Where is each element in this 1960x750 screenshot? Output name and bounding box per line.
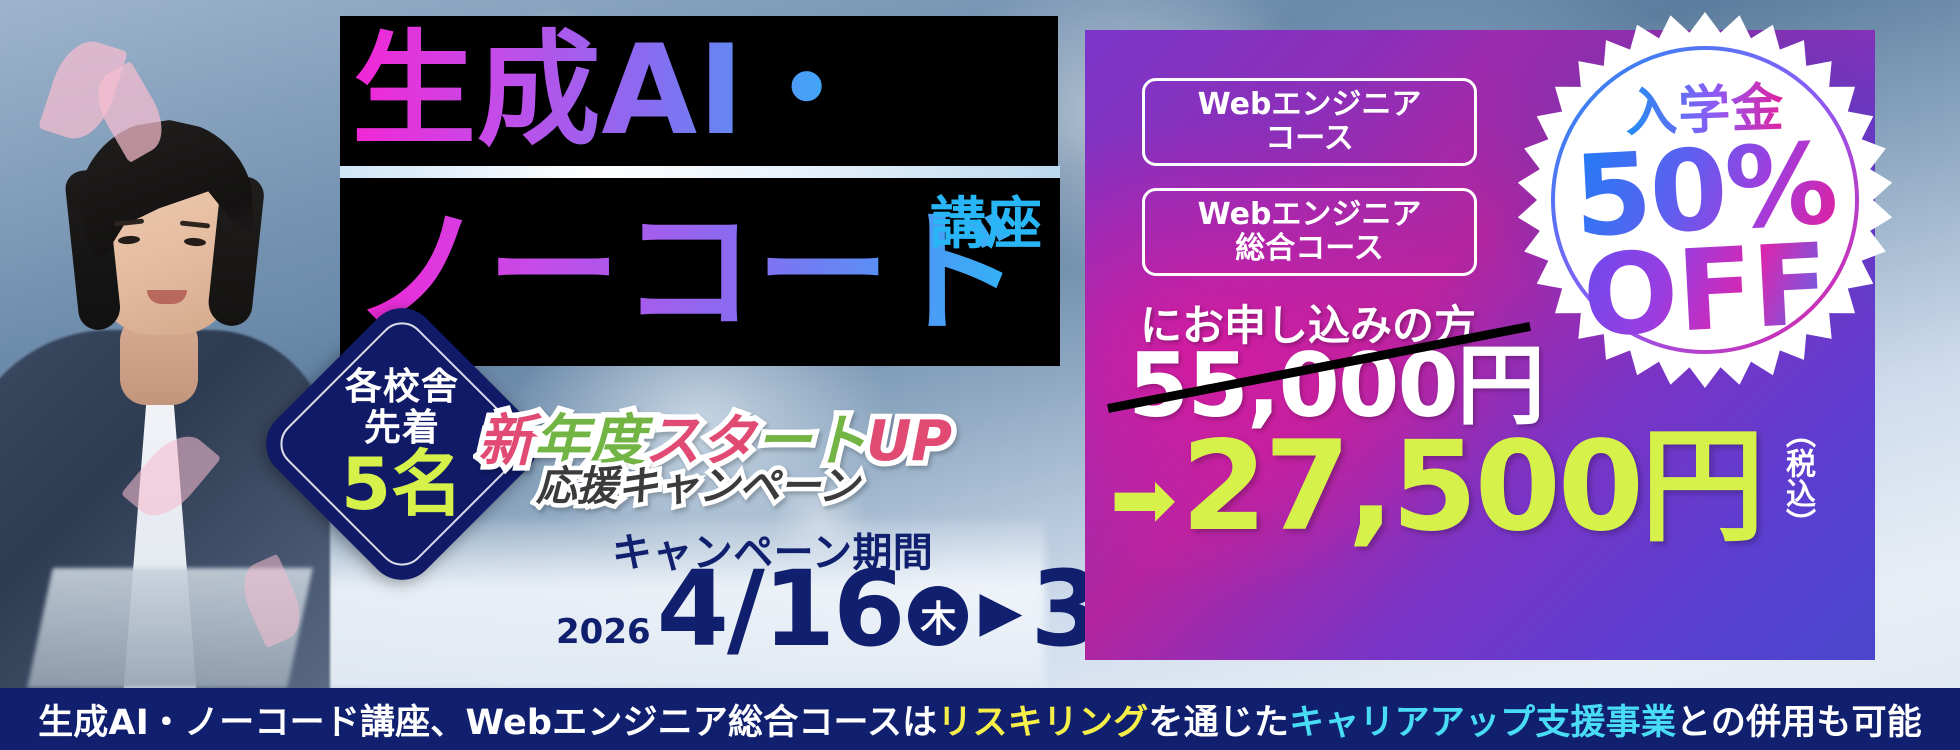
course-box-web-engineer[interactable]: Webエンジニア コース: [1142, 78, 1477, 166]
campaign-headline-part: 新: [478, 409, 533, 474]
price-arrow-icon: ➡: [1110, 454, 1177, 546]
period-start-dow: 木: [908, 586, 968, 646]
starburst-shape: [1515, 10, 1895, 390]
title-suffix-kouza: 講座: [930, 196, 1042, 254]
footer-seg-career-support: キャリアアップ支援事業: [1289, 703, 1676, 743]
tax-note: （税込）: [1782, 418, 1813, 538]
period-arrow-icon: ▶: [979, 584, 1022, 640]
footer-seg-1: 生成AI・ノーコード講座、Webエンジニア総合コースは: [38, 703, 937, 743]
footer-seg-5: との併用も可能: [1676, 703, 1922, 743]
campaign-headline-part: UP: [866, 409, 951, 474]
title-divider-sheen: [340, 166, 1060, 178]
footer-text: 生成AI・ノーコード講座、Webエンジニア総合コースはリスキリングを通じたキャリ…: [38, 694, 1922, 745]
campaign-subline: 応援キャンペーン: [536, 452, 859, 512]
course-box-line1: Webエンジニア: [1198, 88, 1422, 122]
seats-badge-count: 5名: [341, 447, 463, 521]
course-box-line2: コース: [1265, 122, 1354, 156]
footer-bar: 生成AI・ノーコード講座、Webエンジニア総合コースはリスキリングを通じたキャリ…: [0, 688, 1960, 750]
new-price-row: ➡ 27,500円: [1110, 428, 1762, 546]
new-price: 27,500円: [1181, 428, 1762, 546]
title-line-1: 生成AI・: [352, 18, 869, 164]
title-line-2: ノーコード: [352, 186, 1025, 358]
course-box-web-engineer-comprehensive[interactable]: Webエンジニア 総合コース: [1142, 188, 1477, 276]
promotional-banner: 生成AI・ ノーコード 講座 各校舎 先着 5名 新年度スタートUP 応援キャン…: [0, 0, 1960, 750]
seats-badge: 各校舎 先着 5名: [296, 338, 508, 550]
seats-badge-line1: 各校舎: [345, 367, 459, 407]
period-start-date: 4/16: [657, 560, 904, 658]
course-box-line1: Webエンジニア: [1198, 198, 1422, 232]
period-year: 2026: [556, 612, 651, 652]
footer-seg-reskilling: リスキリング: [937, 703, 1148, 743]
footer-seg-3: を通じた: [1148, 703, 1289, 743]
discount-seal: 入学金 50% OFF: [1515, 10, 1895, 390]
course-box-line2: 総合コース: [1235, 232, 1384, 266]
